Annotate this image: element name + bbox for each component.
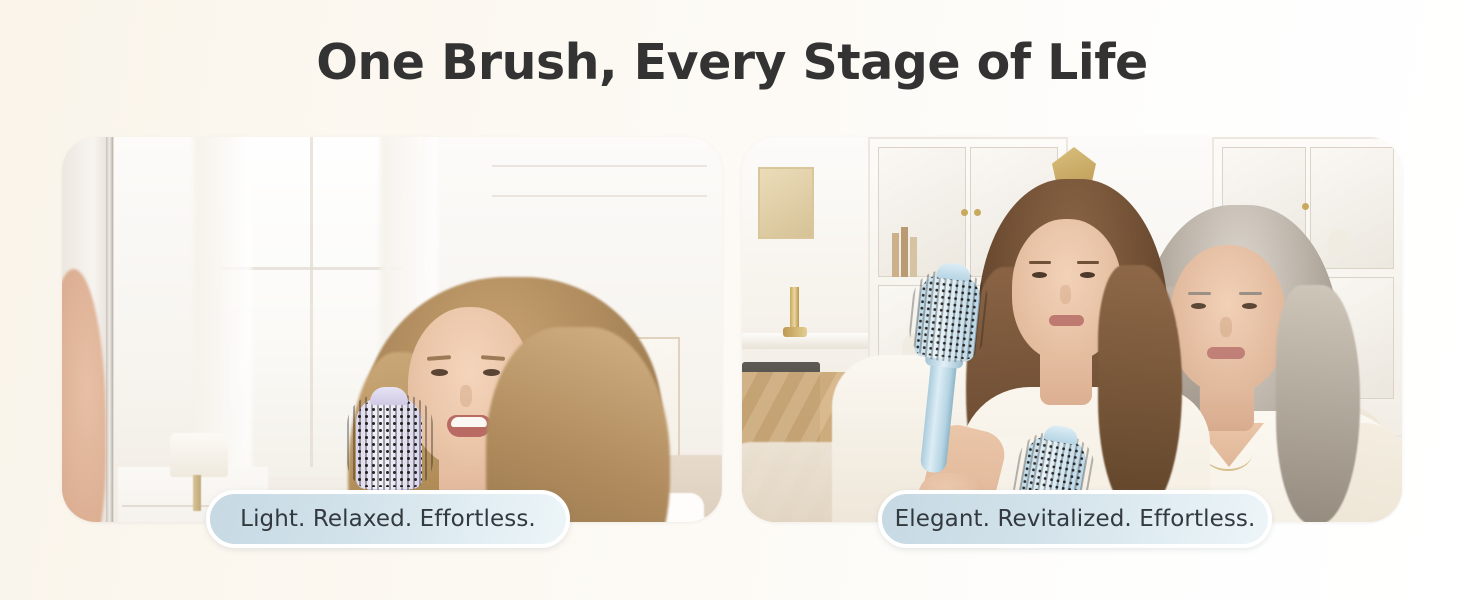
promo-banner: One Brush, Every Stage of Life [0,0,1464,600]
caption-pill-young-woman: Light. Relaxed. Effortless. [206,490,570,548]
caption-text: Elegant. Revitalized. Effortless. [895,506,1256,532]
bedroom-scene-image: NaturaVid [62,137,722,522]
wall-art-decor [758,167,814,239]
living-room-scene-image [742,137,1402,522]
necklace-decor [1204,437,1252,471]
lifestyle-card-mother-daughter[interactable] [742,137,1402,522]
lifestyle-card-young-woman[interactable]: NaturaVid [62,137,722,522]
caption-text: Light. Relaxed. Effortless. [240,506,536,532]
lamp-decor [170,433,228,477]
caption-pill-mother-daughter: Elegant. Revitalized. Effortless. [878,490,1272,548]
page-title: One Brush, Every Stage of Life [0,34,1464,91]
